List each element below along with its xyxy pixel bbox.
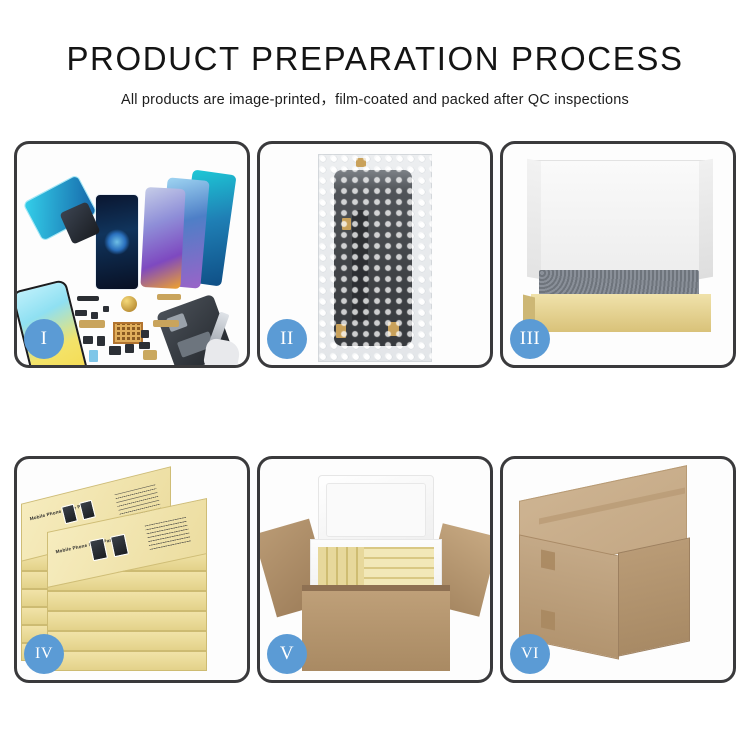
page-title: PRODUCT PREPARATION PROCESS <box>0 42 750 77</box>
process-step-2: II <box>257 141 493 368</box>
step-badge-5: V <box>267 634 307 674</box>
step-badge-6: VI <box>510 634 550 674</box>
process-step-6: VI <box>500 456 736 683</box>
process-step-1: I <box>14 141 250 368</box>
step-badge-4: IV <box>24 634 64 674</box>
product-preparation-infographic: PRODUCT PREPARATION PROCESS All products… <box>0 0 750 750</box>
step-badge-1: I <box>24 319 64 359</box>
step-badge-3: III <box>510 319 550 359</box>
header: PRODUCT PREPARATION PROCESS All products… <box>0 0 750 109</box>
process-step-5: V <box>257 456 493 683</box>
process-step-3: III <box>500 141 736 368</box>
step-badge-2: II <box>267 319 307 359</box>
process-step-4: Mobile Phone Spare Parts Mobile Phone Sp… <box>14 456 250 683</box>
page-subtitle: All products are image-printed，film-coat… <box>0 88 750 109</box>
process-steps-grid: I II <box>14 141 736 683</box>
